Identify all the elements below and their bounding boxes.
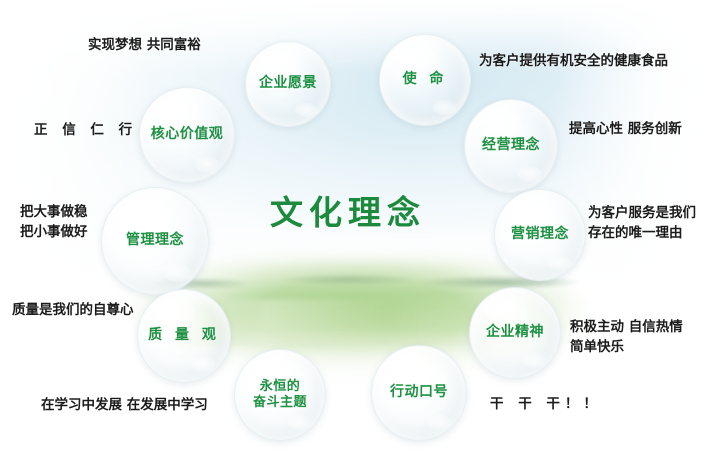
bubble-eternal-theme[interactable]: 永恒的 奋斗主题 xyxy=(234,349,326,441)
bubble-corporate-vision[interactable]: 企业愿景 xyxy=(245,41,331,127)
caption-core-values-text: 正 信 仁 行 xyxy=(34,121,137,141)
caption-mission-text: 为客户提供有机安全的健康食品 xyxy=(479,52,668,72)
bubble-management-concept[interactable]: 管理理念 xyxy=(101,187,209,295)
bubble-action-slogan[interactable]: 行动口号 xyxy=(371,345,467,441)
bubble-label-corporate-spirit: 企业精神 xyxy=(486,324,544,342)
caption-quality-text: 质量是我们的自尊心 xyxy=(12,301,134,321)
bubble-label-core-values: 核心价值观 xyxy=(151,126,224,144)
caption-marketing-text: 为客户服务是我们 存在的唯一理由 xyxy=(588,204,696,243)
caption-eternal-text: 在学习中发展 在发展中学习 xyxy=(41,396,208,416)
bubble-quality-view[interactable]: 质 量 观 xyxy=(137,289,231,383)
caption-management-text: 把大事做稳 把小事做好 xyxy=(20,203,88,242)
bubble-label-eternal-theme: 永恒的 奋斗主题 xyxy=(253,379,307,412)
caption-spirit-text: 积极主动 自信热情 简单快乐 xyxy=(570,318,683,357)
bubble-label-mission: 使 命 xyxy=(403,71,448,89)
page-title: 文化理念 xyxy=(248,186,448,234)
culture-concept-poster: 文化理念 企业愿景 使 命 核心价值观 经营理念 管理理念 营销理念 质 量 观… xyxy=(0,0,711,452)
bubble-label-quality-view: 质 量 观 xyxy=(148,327,220,345)
bubble-mission[interactable]: 使 命 xyxy=(379,34,471,126)
bubble-label-marketing-concept: 营销理念 xyxy=(511,226,569,244)
bubble-label-business-concept: 经营理念 xyxy=(482,137,540,155)
bubble-label-management-concept: 管理理念 xyxy=(126,232,184,250)
caption-vision-text: 实现梦想 共同富裕 xyxy=(88,36,201,56)
bubble-business-concept[interactable]: 经营理念 xyxy=(464,99,558,193)
caption-slogan-text: 干 干 干！！ xyxy=(490,395,602,415)
bubble-label-action-slogan: 行动口号 xyxy=(390,384,448,402)
caption-business-text: 提高心性 服务创新 xyxy=(569,120,682,140)
bubble-core-values[interactable]: 核心价值观 xyxy=(139,87,235,183)
bubble-label-corporate-vision: 企业愿景 xyxy=(259,75,317,93)
bubble-corporate-spirit[interactable]: 企业精神 xyxy=(469,287,561,379)
bubble-marketing-concept[interactable]: 营销理念 xyxy=(494,189,586,281)
